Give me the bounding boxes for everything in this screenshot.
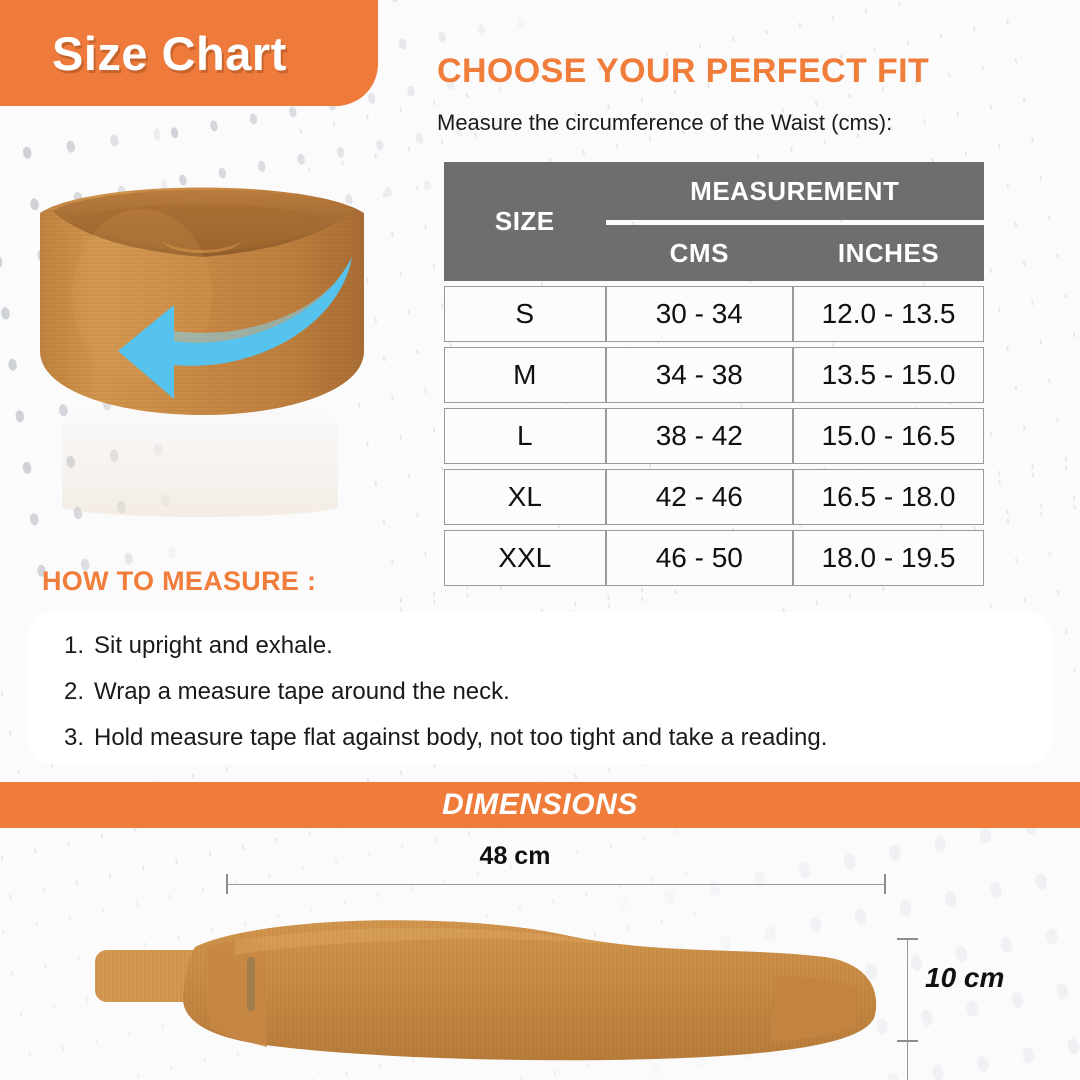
header-cms: CMS xyxy=(606,225,794,281)
list-item-text: Wrap a measure tape around the neck. xyxy=(94,680,1052,704)
size-table: SIZE MEASUREMENT CMS INCHES S 30 - 34 12… xyxy=(444,157,984,591)
cell-cms: 38 - 42 xyxy=(606,408,794,464)
header-inches: INCHES xyxy=(793,225,984,281)
cervical-collar-image xyxy=(22,165,382,425)
width-dimension-cap-right xyxy=(884,874,886,894)
width-dimension-cap-left xyxy=(226,874,228,894)
list-item-number: 1. xyxy=(64,634,94,658)
header-size: SIZE xyxy=(444,162,606,281)
cell-cms: 30 - 34 xyxy=(606,286,794,342)
how-to-measure-card: 1. Sit upright and exhale. 2. Wrap a mea… xyxy=(28,612,1052,764)
cell-cms: 34 - 38 xyxy=(606,347,794,403)
cell-cms: 42 - 46 xyxy=(606,469,794,525)
width-dimension-label: 48 cm xyxy=(0,842,1080,871)
page-headline: CHOOSE YOUR PERFECT FIT xyxy=(437,52,929,91)
size-table-head: SIZE MEASUREMENT CMS INCHES xyxy=(444,162,984,281)
cell-inches: 16.5 - 18.0 xyxy=(793,469,984,525)
cell-size: L xyxy=(444,408,606,464)
cell-inches: 12.0 - 13.5 xyxy=(793,286,984,342)
size-chart-page: Size Chart CHOOSE YOUR PERFECT FIT Measu… xyxy=(0,0,1080,1080)
height-dimension-line xyxy=(907,938,908,1080)
height-dimension-cap-top xyxy=(897,938,918,940)
list-item-text: Sit upright and exhale. xyxy=(94,634,1052,658)
size-table-body: S 30 - 34 12.0 - 13.5 M 34 - 38 13.5 - 1… xyxy=(444,286,984,586)
cell-inches: 18.0 - 19.5 xyxy=(793,530,984,586)
height-dimension-cap-bottom xyxy=(897,1040,918,1042)
list-item-number: 3. xyxy=(64,726,94,750)
table-row: XXL 46 - 50 18.0 - 19.5 xyxy=(444,530,984,586)
size-chart-banner: Size Chart xyxy=(0,0,378,106)
dimensions-banner: DIMENSIONS xyxy=(0,782,1080,828)
table-row: L 38 - 42 15.0 - 16.5 xyxy=(444,408,984,464)
width-dimension-value: 48 cm xyxy=(480,842,551,871)
cell-size: XXL xyxy=(444,530,606,586)
header-measurement: MEASUREMENT xyxy=(606,162,984,220)
cell-inches: 13.5 - 15.0 xyxy=(793,347,984,403)
how-to-measure-title: HOW TO MEASURE : xyxy=(42,566,316,597)
table-header-row-1: SIZE MEASUREMENT xyxy=(444,162,984,220)
cell-size: XL xyxy=(444,469,606,525)
table-row: XL 42 - 46 16.5 - 18.0 xyxy=(444,469,984,525)
table-row: S 30 - 34 12.0 - 13.5 xyxy=(444,286,984,342)
dimensions-banner-title: DIMENSIONS xyxy=(442,788,638,822)
cell-inches: 15.0 - 16.5 xyxy=(793,408,984,464)
cervical-collar-flat-image xyxy=(95,895,885,1065)
height-dimension-label: 10 cm xyxy=(925,962,1004,994)
cell-size: S xyxy=(444,286,606,342)
list-item-text: Hold measure tape flat against body, not… xyxy=(94,726,1052,750)
list-item: 1. Sit upright and exhale. xyxy=(64,634,1052,658)
list-item: 2. Wrap a measure tape around the neck. xyxy=(64,680,1052,704)
size-chart-banner-title: Size Chart xyxy=(52,26,287,81)
cell-cms: 46 - 50 xyxy=(606,530,794,586)
page-subheadline: Measure the circumference of the Waist (… xyxy=(437,110,892,136)
list-item-number: 2. xyxy=(64,680,94,704)
width-dimension-line xyxy=(226,884,886,885)
list-item: 3. Hold measure tape flat against body, … xyxy=(64,726,1052,750)
cell-size: M xyxy=(444,347,606,403)
table-row: M 34 - 38 13.5 - 15.0 xyxy=(444,347,984,403)
